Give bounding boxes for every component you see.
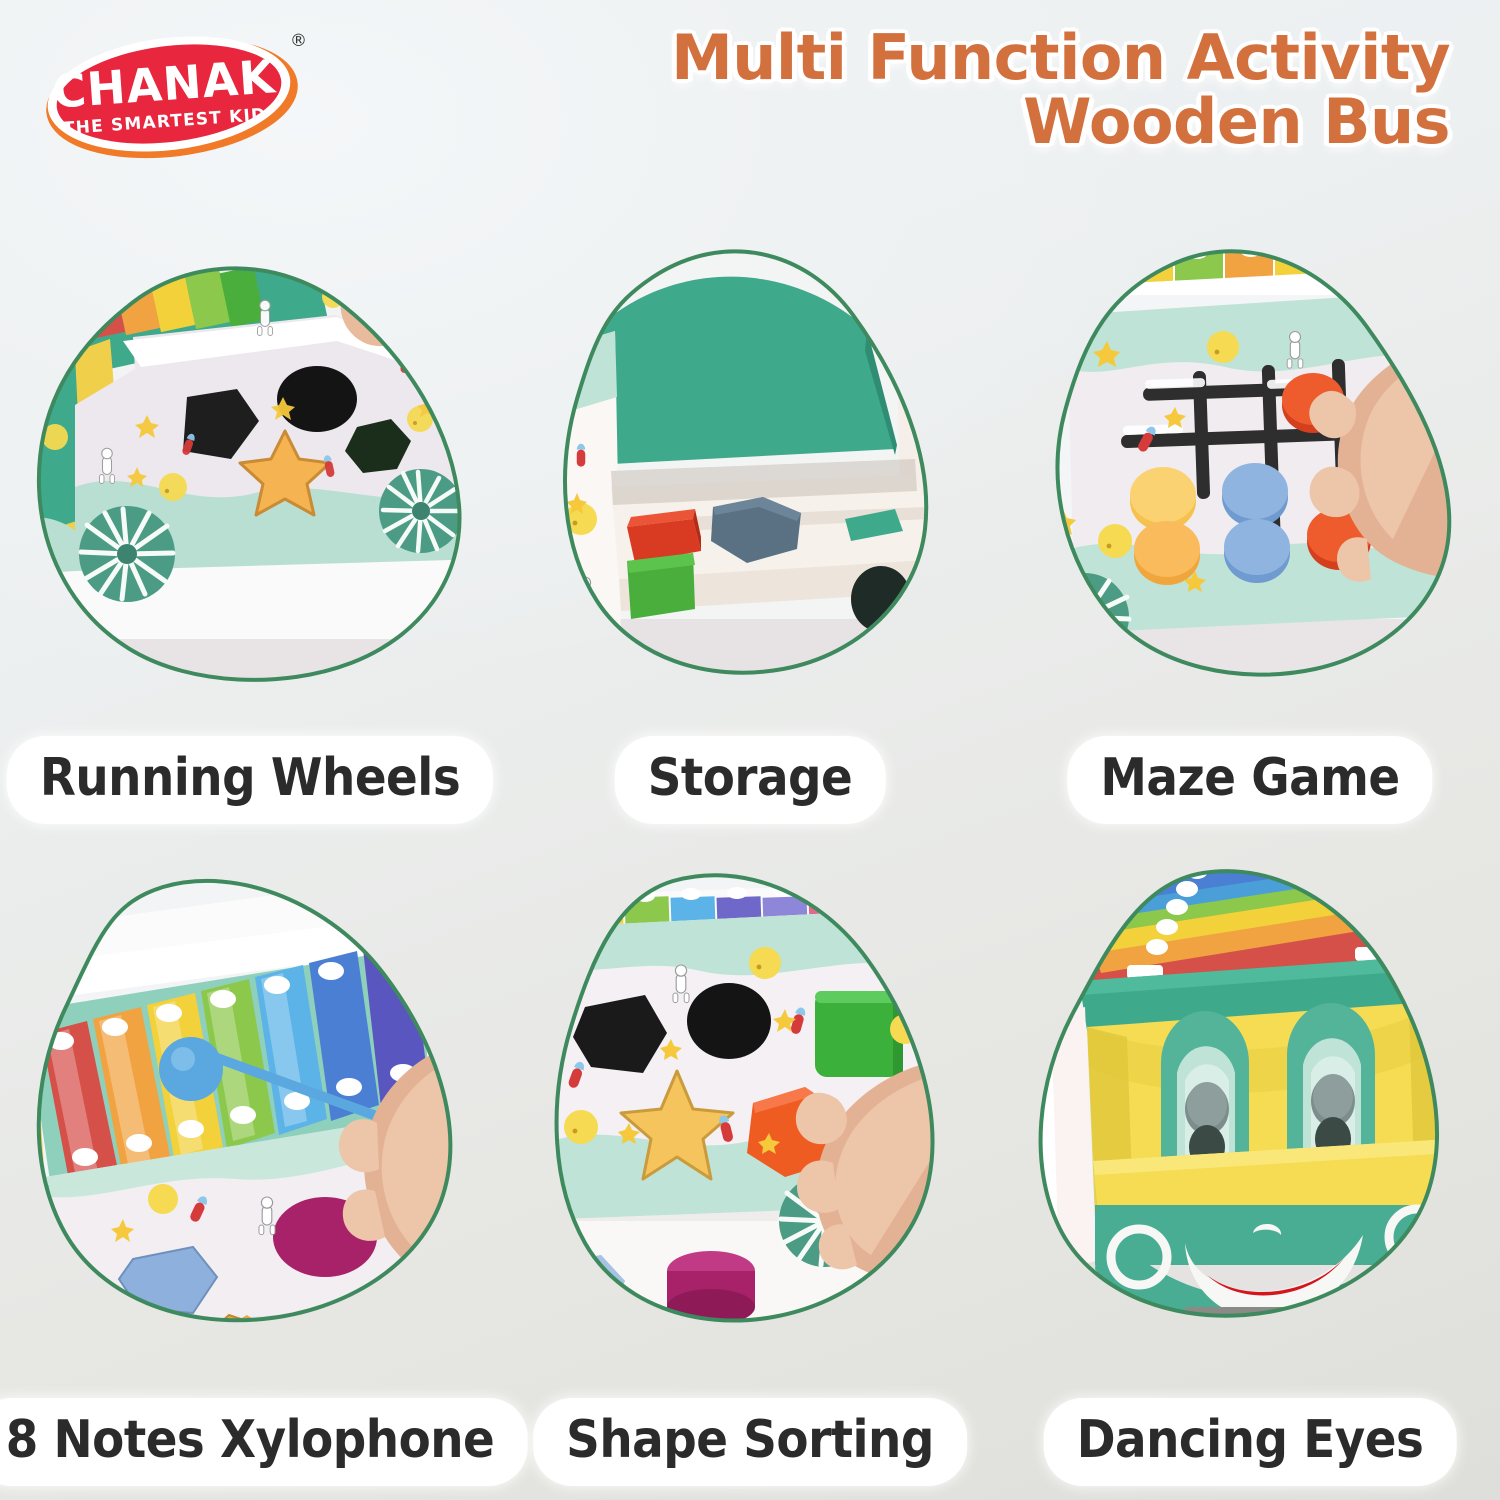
- header: CHANAK THE SMARTEST KID ® Multi Function…: [0, 0, 1500, 215]
- feature-cell-shape-sorting: Shape Sorting: [500, 857, 1000, 1499]
- storage-lid: [587, 277, 895, 465]
- title-line-1: Multi Function Activity: [671, 21, 1450, 94]
- feature-label: 8 Notes Xylophone: [6, 1410, 495, 1470]
- registered-mark-icon: ®: [290, 31, 307, 51]
- feature-label: Shape Sorting: [566, 1410, 934, 1470]
- feature-image-shape-sorting: [515, 861, 985, 1341]
- feature-image-running-wheels: [15, 219, 485, 699]
- xylophone-strip: [1115, 233, 1445, 295]
- feature-caption-maze-game: Maze Game: [1076, 745, 1423, 815]
- feature-image-dancing-eyes: [1015, 861, 1485, 1341]
- feature-caption-dancing-eyes: Dancing Eyes: [1053, 1407, 1448, 1477]
- feature-cell-dancing-eyes: Dancing Eyes: [1000, 857, 1500, 1499]
- feature-caption-xylophone: 8 Notes Xylophone: [0, 1407, 518, 1477]
- feature-image-storage: [515, 219, 985, 699]
- feature-label: Running Wheels: [40, 748, 460, 808]
- feature-caption-storage: Storage: [624, 745, 877, 815]
- square-block: [815, 991, 901, 1077]
- feature-grid: Running Wheels: [0, 215, 1500, 1500]
- wheel-front: [379, 469, 463, 553]
- title-line-2: Wooden Bus: [550, 90, 1450, 154]
- oval-hole: [277, 366, 357, 432]
- eye-right: [1287, 1003, 1375, 1161]
- feature-cell-storage: Storage: [500, 215, 1000, 857]
- chanak-logo-svg: CHANAK THE SMARTEST KID ®: [32, 24, 312, 169]
- feature-cell-running-wheels: Running Wheels: [0, 215, 500, 857]
- eye-left: [1161, 1011, 1249, 1169]
- feature-caption-running-wheels: Running Wheels: [16, 745, 484, 815]
- wheel-rear: [79, 506, 175, 602]
- feature-image-maze-game: [1015, 219, 1485, 699]
- brand-logo: CHANAK THE SMARTEST KID ®: [32, 24, 312, 169]
- circle-hole: [687, 983, 771, 1059]
- feature-cell-maze-game: Maze Game: [1000, 215, 1500, 857]
- feature-label: Dancing Eyes: [1077, 1410, 1424, 1470]
- feature-image-xylophone: [15, 861, 485, 1341]
- feature-label: Storage: [648, 748, 853, 808]
- page-title: Multi Function Activity Wooden Bus: [550, 26, 1450, 155]
- feature-label: Maze Game: [1100, 748, 1399, 808]
- feature-cell-xylophone: 8 Notes Xylophone: [0, 857, 500, 1499]
- feature-caption-shape-sorting: Shape Sorting: [542, 1407, 958, 1477]
